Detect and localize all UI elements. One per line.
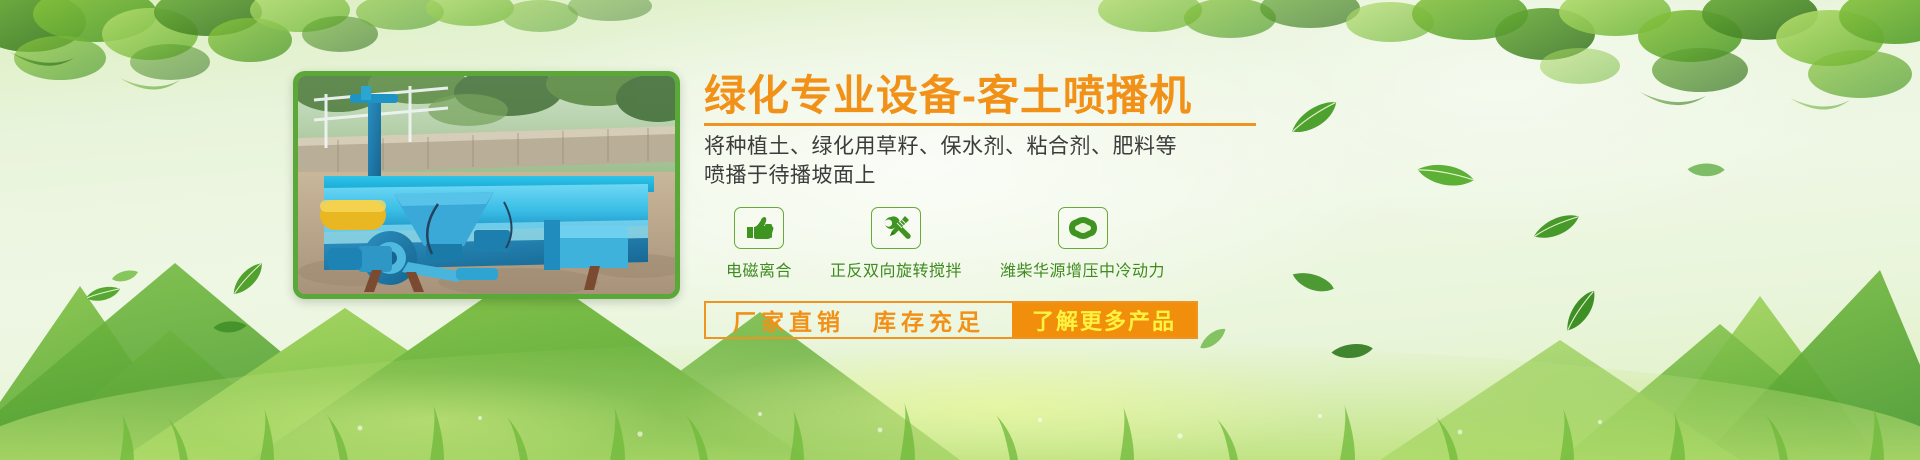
title-underline — [704, 123, 1256, 126]
feature-item-electromagnetic-clutch: 电磁离合 — [726, 207, 792, 281]
cta-slogan: 厂家直销 库存充足 — [706, 303, 1012, 337]
feature-label: 潍柴华源增压中冷动力 — [1000, 257, 1165, 281]
subtitle-line-1: 将种植土、绿化用草籽、保水剂、粘合剂、肥料等 — [704, 133, 1504, 162]
thumbs-up-icon — [734, 207, 784, 249]
promo-banner: 绿化专业设备-客土喷播机 将种植土、绿化用草籽、保水剂、粘合剂、肥料等 喷播于待… — [0, 0, 1920, 460]
feature-item-bidirectional-mixing: 正反双向旋转搅拌 — [830, 207, 962, 281]
feature-label: 正反双向旋转搅拌 — [830, 257, 962, 281]
floating-leaf-icon — [1684, 155, 1728, 185]
feature-list: 电磁离合 — [704, 207, 1504, 281]
tools-icon — [871, 207, 921, 249]
product-photo — [293, 71, 680, 299]
page-title: 绿化专业设备-客土喷播机 — [704, 72, 1504, 119]
feature-label: 电磁离合 — [726, 257, 792, 281]
floating-leaf-icon — [110, 268, 140, 284]
subtitle-line-2: 喷播于待播坡面上 — [704, 162, 1504, 191]
banner-content: 绿化专业设备-客土喷播机 将种植土、绿化用草籽、保水剂、粘合剂、肥料等 喷播于待… — [704, 72, 1504, 339]
gear-icon — [1058, 207, 1108, 249]
learn-more-button[interactable]: 了解更多产品 — [1012, 303, 1196, 337]
floating-leaf-icon — [84, 284, 122, 304]
cta-bar: 厂家直销 库存充足 了解更多产品 — [704, 301, 1198, 339]
feature-item-weichai-power: 潍柴华源增压中冷动力 — [1000, 207, 1165, 281]
